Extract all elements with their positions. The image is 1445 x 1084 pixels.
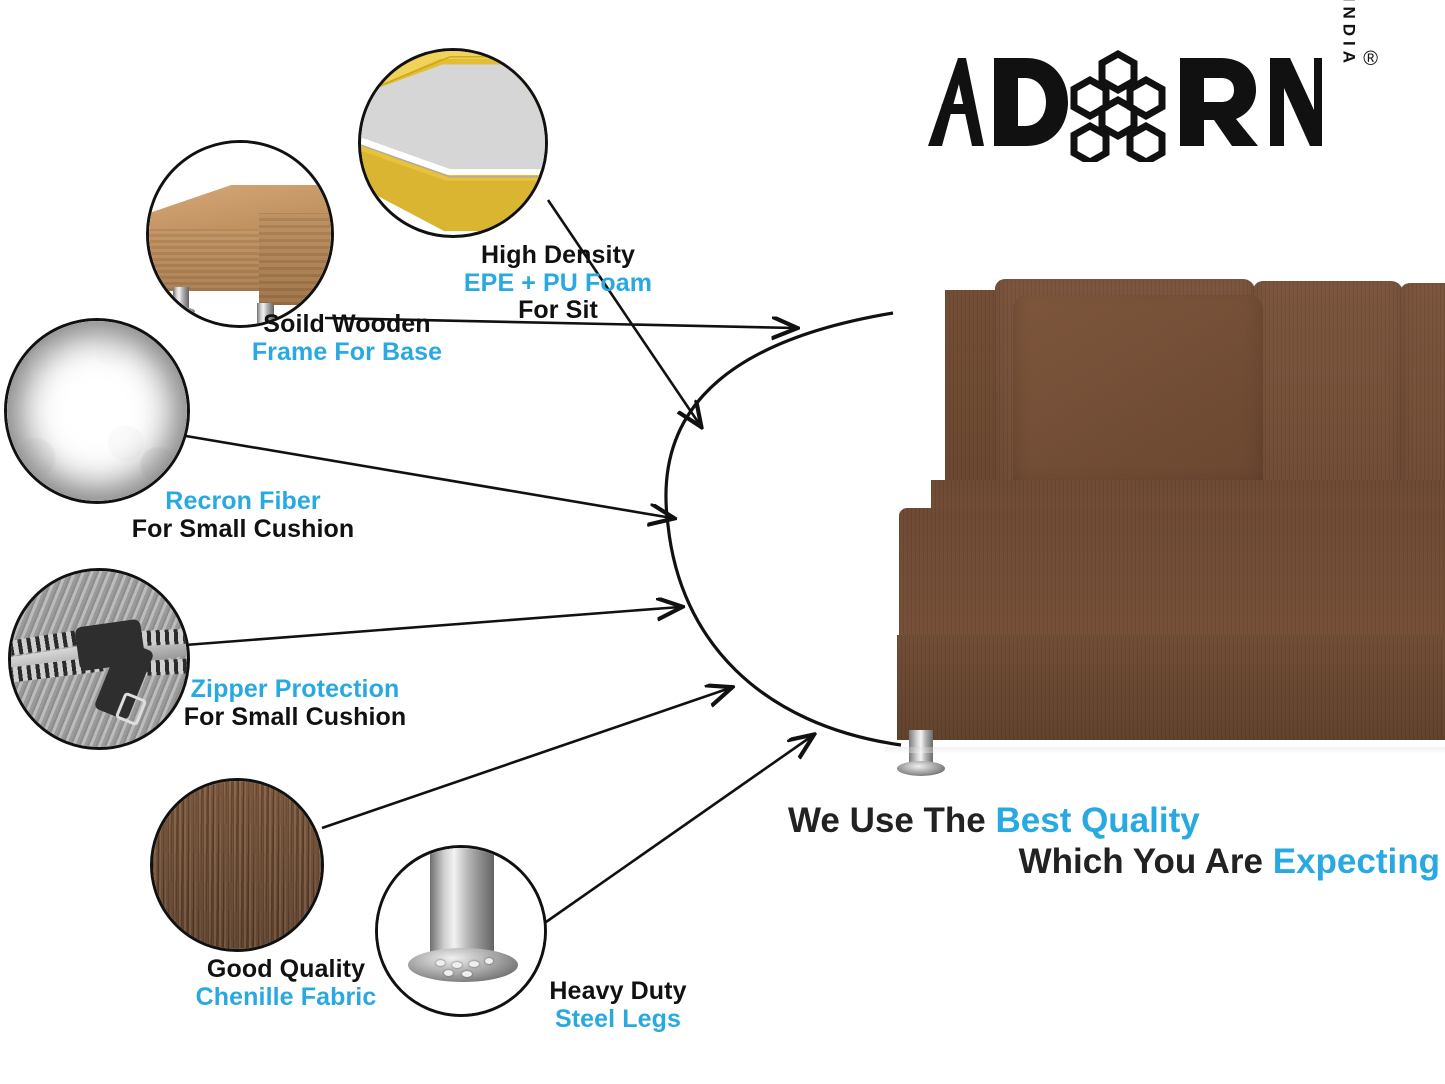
tagline-line2-black: Which You Are: [1019, 842, 1273, 881]
tagline-line1-black: We Use The: [788, 801, 995, 840]
label-recron-fiber: Recron Fiber For Small Cushion: [118, 488, 368, 543]
steel-leg-icon: [375, 845, 547, 1017]
zipper-icon: [8, 568, 190, 750]
infographic-canvas: INDIA ®: [0, 0, 1445, 1084]
feature-line-2: Steel Legs: [528, 1006, 708, 1034]
feature-line-2: Chenille Fabric: [186, 984, 386, 1012]
tagline-line2-blue: Expecting: [1273, 842, 1440, 881]
convergence-arc: [666, 313, 901, 745]
label-steel-legs: Heavy Duty Steel Legs: [528, 978, 708, 1033]
tagline: We Use The Best Quality Which You Are Ex…: [780, 800, 1440, 883]
wooden-frame-icon: [146, 140, 334, 328]
label-solid-wooden-frame: Soild Wooden Frame For Base: [232, 311, 462, 366]
feature-line-2: EPE + PU Foam: [448, 270, 668, 298]
label-high-density-foam: High Density EPE + PU Foam For Sit: [448, 242, 668, 325]
label-chenille-fabric: Good Quality Chenille Fabric: [186, 956, 386, 1011]
feature-line-1: Good Quality: [186, 956, 386, 984]
feature-line-1: Zipper Protection: [170, 676, 420, 704]
feature-line-1: High Density: [448, 242, 668, 270]
feature-line-1: Recron Fiber: [118, 488, 368, 516]
label-zipper-protection: Zipper Protection For Small Cushion: [170, 676, 420, 731]
tagline-line1-blue: Best Quality: [995, 801, 1199, 840]
feature-line-1: Heavy Duty: [528, 978, 708, 1006]
feature-line-1: Soild Wooden: [232, 311, 462, 339]
recron-fiber-icon: [4, 318, 190, 504]
feature-line-3: For Sit: [448, 297, 668, 325]
feature-line-2: For Small Cushion: [170, 704, 420, 732]
feature-line-2: For Small Cushion: [118, 516, 368, 544]
foam-layers-icon: [358, 48, 548, 238]
feature-line-2: Frame For Base: [232, 339, 462, 367]
chenille-fabric-icon: [150, 778, 324, 952]
